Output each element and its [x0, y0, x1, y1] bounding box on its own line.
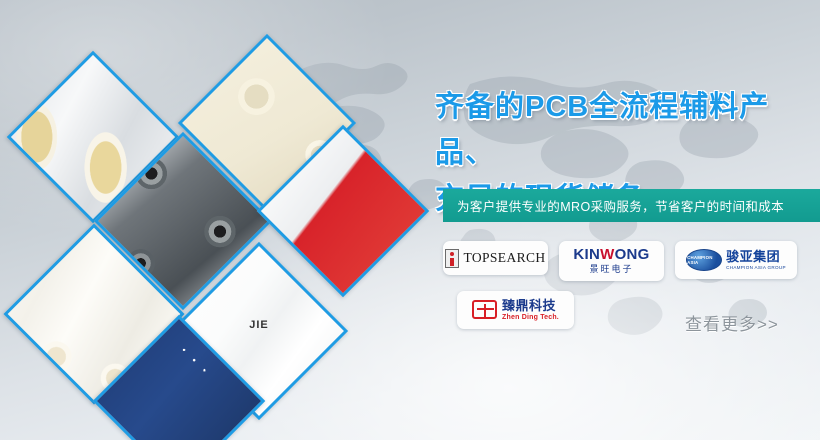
view-more-link[interactable]: 查看更多>>	[685, 310, 779, 335]
zhen-ding-label-en: Zhen Ding Tech.	[502, 314, 559, 321]
brand-logo-champion-asia[interactable]: CHAMPION ASIA 骏亚集团 CHAMPION ASIA GROUP	[675, 241, 797, 279]
zhen-ding-label-cn: 臻鼎科技	[502, 299, 559, 313]
brand-logo-kinwong[interactable]: KINWONG 景旺电子	[559, 241, 664, 281]
topsearch-mark-icon	[445, 249, 459, 268]
champion-asia-label-cn: 骏亚集团	[726, 249, 780, 264]
kinwong-label-en: KINWONG	[573, 247, 649, 263]
kinwong-label-cn: 景旺电子	[573, 265, 649, 274]
product-tile-mosaic: JIE	[0, 0, 430, 440]
kinwong-text: KINWONG	[573, 246, 649, 263]
brand-logo-zhen-ding[interactable]: 臻鼎科技 Zhen Ding Tech.	[457, 291, 574, 329]
banner-subtitle-text: 为客户提供专业的MRO采购服务，节省客户的时间和成本	[443, 196, 784, 215]
banner-content: 齐备的PCB全流程辅料产品、 充足的现货储备 为客户提供专业的MRO采购服务，节…	[430, 0, 820, 440]
champion-asia-globe-icon: CHAMPION ASIA	[686, 249, 722, 271]
topsearch-label: TOPSEARCH	[463, 250, 545, 266]
brand-logo-topsearch[interactable]: TOPSEARCH	[443, 241, 548, 275]
champion-asia-label-en: CHAMPION ASIA GROUP	[726, 266, 786, 271]
promo-banner: JIE 齐备的PCB全流程辅料产品、 充足的现货储备 为客户提供专业的MRO采购…	[0, 0, 820, 440]
banner-subtitle-bar: 为客户提供专业的MRO采购服务，节省客户的时间和成本	[443, 189, 820, 222]
zhen-ding-mark-icon	[472, 300, 497, 319]
